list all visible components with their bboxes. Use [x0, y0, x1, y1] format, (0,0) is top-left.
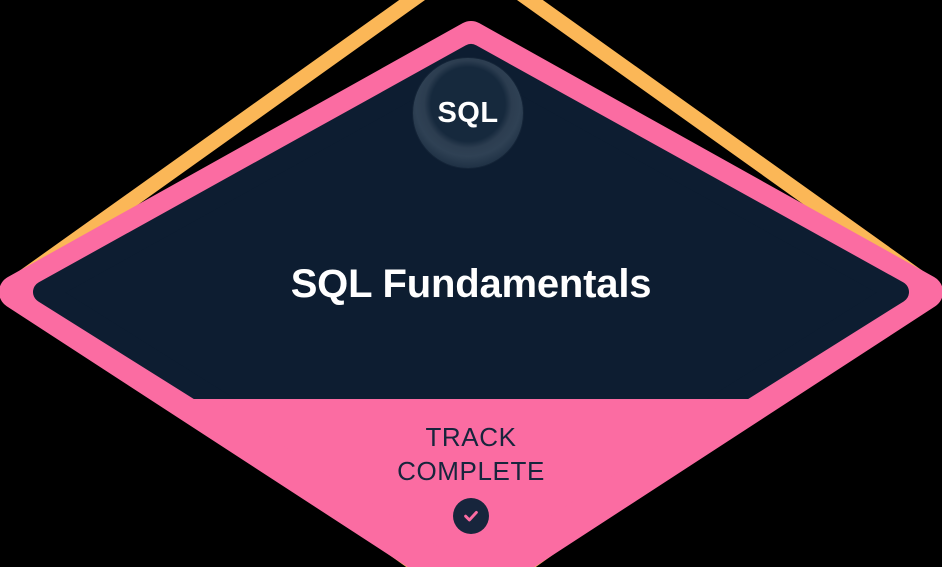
badge-shape-graphic [0, 0, 942, 567]
track-completion-badge[interactable]: SQL SQL Fundamentals TRACK COMPLETE [0, 0, 942, 567]
